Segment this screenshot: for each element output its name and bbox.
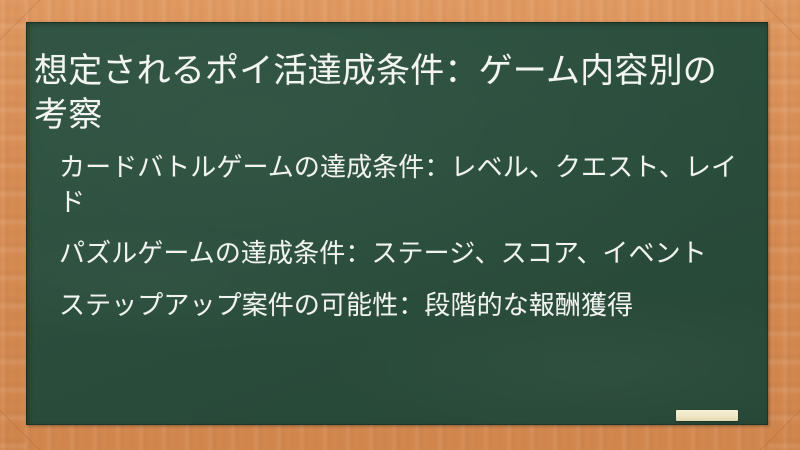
- bullet-item-1: カードバトルゲームの達成条件：レベル、クエスト、レイド: [34, 150, 756, 219]
- bullet-item-2: パズルゲームの達成条件：ステージ、スコア、イベント: [34, 236, 756, 271]
- wood-frame-right-grain: [768, 0, 800, 450]
- bullet-list: カードバトルゲームの達成条件：レベル、クエスト、レイド パズルゲームの達成条件：…: [34, 150, 756, 322]
- slide-title: 想定されるポイ活達成条件：ゲーム内容別の考察: [34, 49, 750, 137]
- chalkboard-surface: 想定されるポイ活達成条件：ゲーム内容別の考察 カードバトルゲームの達成条件：レベ…: [26, 22, 768, 425]
- wood-frame-left-grain: [0, 0, 26, 450]
- chalk-stick-icon: [676, 410, 738, 421]
- chalkboard-slide: 想定されるポイ活達成条件：ゲーム内容別の考察 カードバトルゲームの達成条件：レベ…: [0, 0, 800, 450]
- bullet-item-3: ステップアップ案件の可能性：段階的な報酬獲得: [34, 288, 756, 323]
